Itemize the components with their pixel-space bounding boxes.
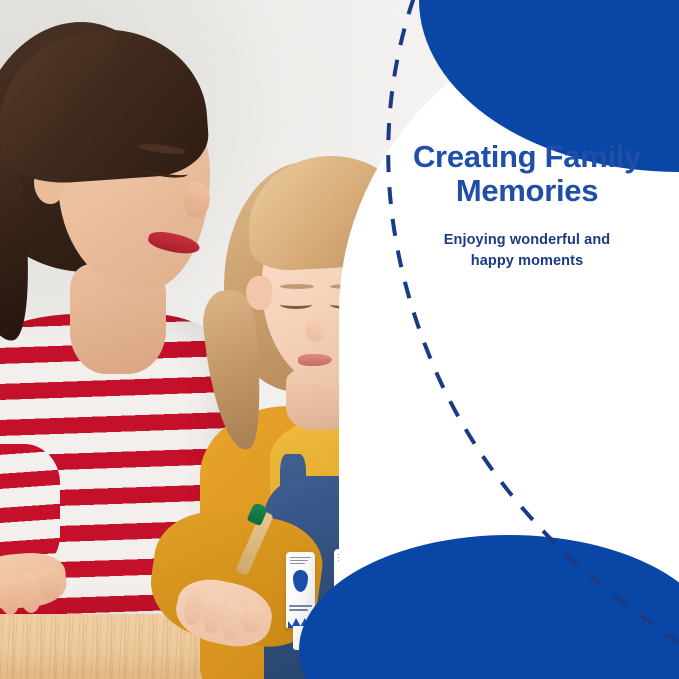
- product-lifestyle-banner: Creating Family Memories Enjoying wonder…: [0, 0, 679, 679]
- subhead-line-1: Enjoying wonderful and: [444, 232, 611, 248]
- promo-copy-block: Creating Family Memories Enjoying wonder…: [387, 140, 667, 271]
- subhead-line-2: happy moments: [471, 253, 584, 269]
- page-subtitle: Enjoying wonderful and happy moments: [387, 230, 667, 271]
- child-eyebrow-left: [280, 284, 314, 289]
- child-eye-left: [280, 300, 312, 309]
- child-ear: [246, 276, 272, 310]
- headline-line-2: Memories: [456, 173, 598, 208]
- headline-line-1: Creating Family: [413, 139, 641, 174]
- page-title: Creating Family Memories: [387, 140, 667, 208]
